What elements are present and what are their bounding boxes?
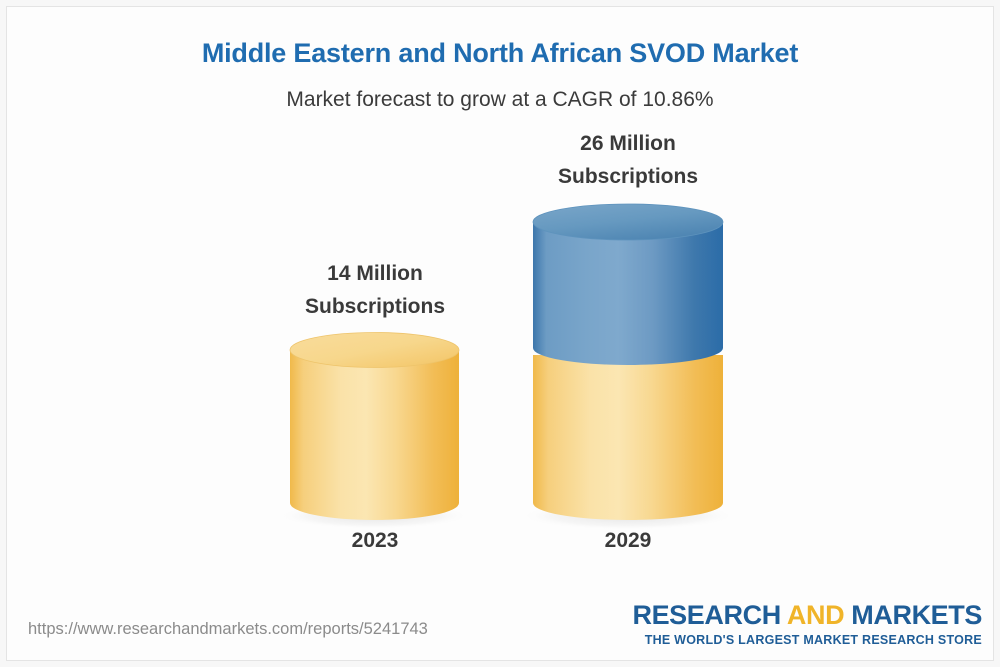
bar-cylinder-2023[interactable] bbox=[290, 333, 459, 521]
brand-logo-research: RESEARCH bbox=[632, 600, 786, 630]
source-url[interactable]: https://www.researchandmarkets.com/repor… bbox=[28, 620, 428, 639]
brand-logo-tagline: THE WORLD'S LARGEST MARKET RESEARCH STOR… bbox=[632, 633, 982, 647]
bar-body-upper-2029 bbox=[533, 222, 723, 365]
bar-body-2023 bbox=[290, 350, 459, 520]
bar-value-label-2023: 14 Million Subscriptions bbox=[255, 258, 495, 323]
bar-category-label-2029: 2029 bbox=[508, 529, 748, 553]
infographic-canvas: Middle Eastern and North African SVOD Ma… bbox=[0, 0, 1000, 667]
bar-value-line1: 14 Million bbox=[255, 258, 495, 291]
bar-body-lower-2029 bbox=[533, 355, 723, 520]
brand-logo[interactable]: RESEARCH AND MARKETS THE WORLD'S LARGEST… bbox=[632, 600, 982, 647]
bar-value-line2: Subscriptions bbox=[508, 161, 748, 194]
bar-top-2023 bbox=[290, 333, 459, 368]
bar-cylinder-2029[interactable] bbox=[533, 204, 723, 520]
bar-category-label-2023: 2023 bbox=[255, 529, 495, 553]
bar-top-2029 bbox=[533, 204, 723, 240]
brand-logo-and: AND bbox=[787, 600, 851, 630]
bar-value-line1: 26 Million bbox=[508, 128, 748, 161]
bar-value-line2: Subscriptions bbox=[255, 291, 495, 324]
bar-value-label-2029: 26 Million Subscriptions bbox=[508, 128, 748, 193]
cylinder-bar-chart bbox=[0, 0, 1000, 667]
brand-logo-markets: MARKETS bbox=[851, 600, 982, 630]
brand-logo-wordmark: RESEARCH AND MARKETS bbox=[632, 600, 982, 631]
